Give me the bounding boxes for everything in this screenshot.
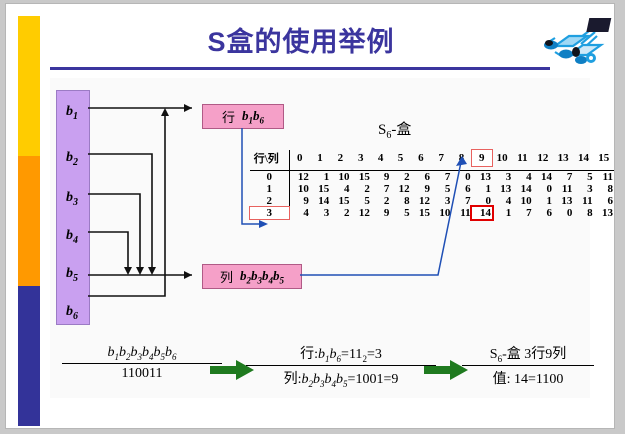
bit-label-b4: b4 bbox=[57, 228, 87, 246]
bit-label-b5: b5 bbox=[57, 266, 87, 284]
step2-numerator: 行:b1b6=112=3 bbox=[246, 343, 436, 365]
bit-label-b1: b1 bbox=[57, 104, 87, 122]
step1-numerator: b1b2b3b4b5b6 bbox=[62, 345, 222, 363]
slide-canvas: S盒的使用举例 bbox=[6, 4, 614, 428]
formula-step-3: S6-盒 3行9列 值: 14=1100 bbox=[462, 343, 594, 388]
step1-denominator: 110011 bbox=[62, 364, 222, 382]
step3-numerator: S6-盒 3行9列 bbox=[462, 343, 594, 365]
step2-denominator: 列:b2b3b4b5=1001=9 bbox=[246, 366, 436, 389]
slide-screenshot: S盒的使用举例 bbox=[0, 0, 625, 434]
formula-step-1: b1b2b3b4b5b6 110011 bbox=[62, 345, 222, 382]
formula-step-2: 行:b1b6=112=3 列:b2b3b4b5=1001=9 bbox=[246, 343, 436, 389]
step3-denominator: 值: 14=1100 bbox=[462, 366, 594, 388]
bit-label-b6: b6 bbox=[57, 304, 87, 322]
bit-label-b2: b2 bbox=[57, 150, 87, 168]
derivation-row: b1b2b3b4b5b6 110011 行:b1b6=112=3 列:b2b3b… bbox=[6, 339, 614, 401]
bit-label-b3: b3 bbox=[57, 190, 87, 208]
